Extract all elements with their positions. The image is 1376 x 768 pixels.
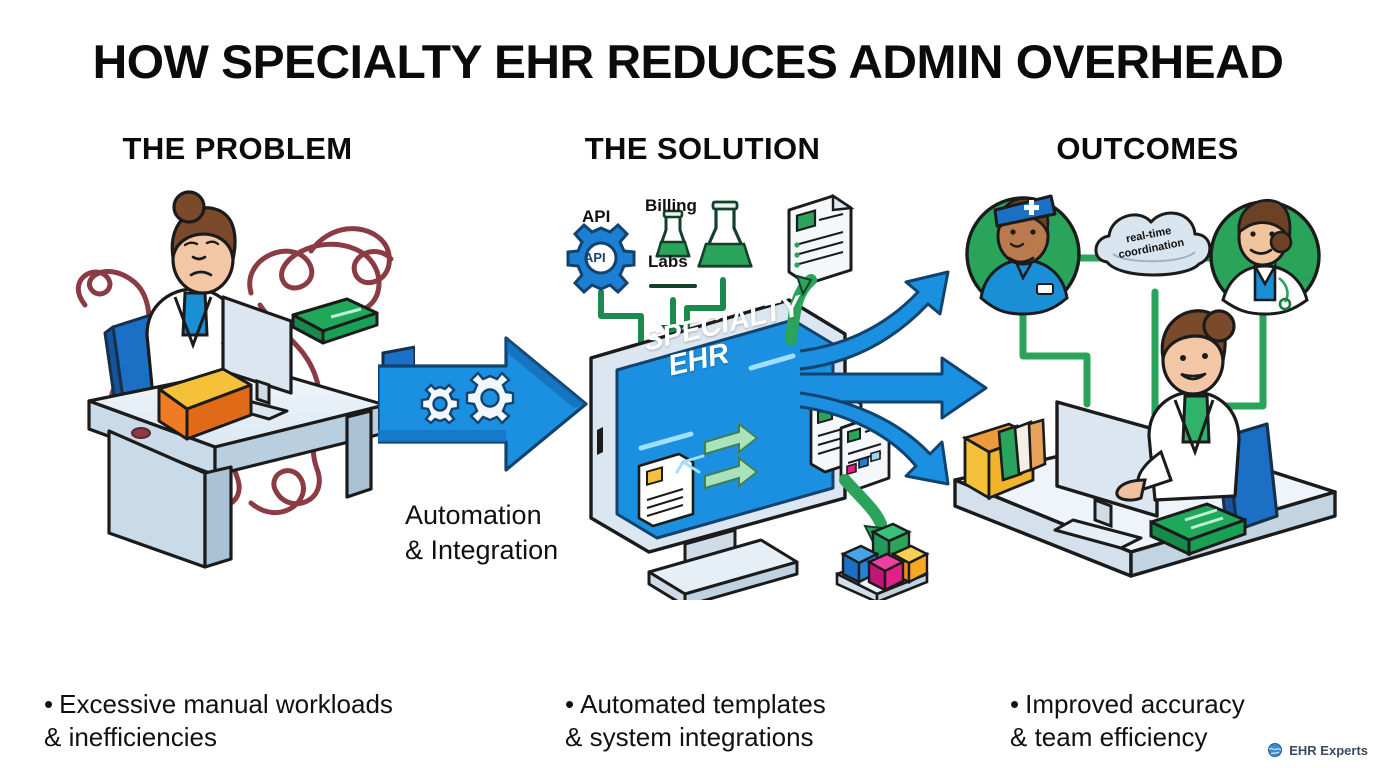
caption-text-outcomes: Improved accuracy & team efficiency <box>1010 689 1245 752</box>
column-heading-problem: THE PROBLEM <box>60 131 415 167</box>
nurse-avatar <box>967 196 1079 314</box>
caption-text-solution: Automated templates & system integration… <box>565 689 826 752</box>
caption-outcomes: •Improved accuracy & team efficiency <box>1010 655 1350 754</box>
caption-text-problem: Excessive manual workloads & inefficienc… <box>44 689 393 752</box>
column-heading-solution: THE SOLUTION <box>525 131 880 167</box>
flask-large-icon <box>699 202 751 266</box>
caption-bullet-solution: • <box>565 689 574 719</box>
caption-solution: •Automated templates & system integratio… <box>565 655 985 754</box>
illustration-problem <box>55 185 415 605</box>
caption-bullet-problem: • <box>44 689 53 719</box>
flask-small-icon <box>657 211 689 256</box>
caption-problem: •Excessive manual workloads & inefficien… <box>44 655 514 754</box>
globe-icon <box>1267 742 1283 758</box>
column-heading-outcomes: OUTCOMES <box>970 131 1325 167</box>
page-title: HOW SPECIALTY EHR REDUCES ADMIN OVERHEAD <box>0 34 1376 89</box>
doctor-avatar <box>1211 200 1319 314</box>
label-labs: Labs <box>648 252 688 272</box>
label-api: API <box>582 207 610 227</box>
footer-brand: EHR Experts <box>1267 742 1368 758</box>
label-api-gear-badge: API <box>584 250 606 265</box>
label-billing: Billing <box>645 196 697 216</box>
caption-bullet-outcomes: • <box>1010 689 1019 719</box>
footer-brand-label: EHR Experts <box>1289 743 1368 758</box>
data-cubes-icon <box>837 524 927 600</box>
infographic-canvas: HOW SPECIALTY EHR REDUCES ADMIN OVERHEAD… <box>0 0 1376 768</box>
